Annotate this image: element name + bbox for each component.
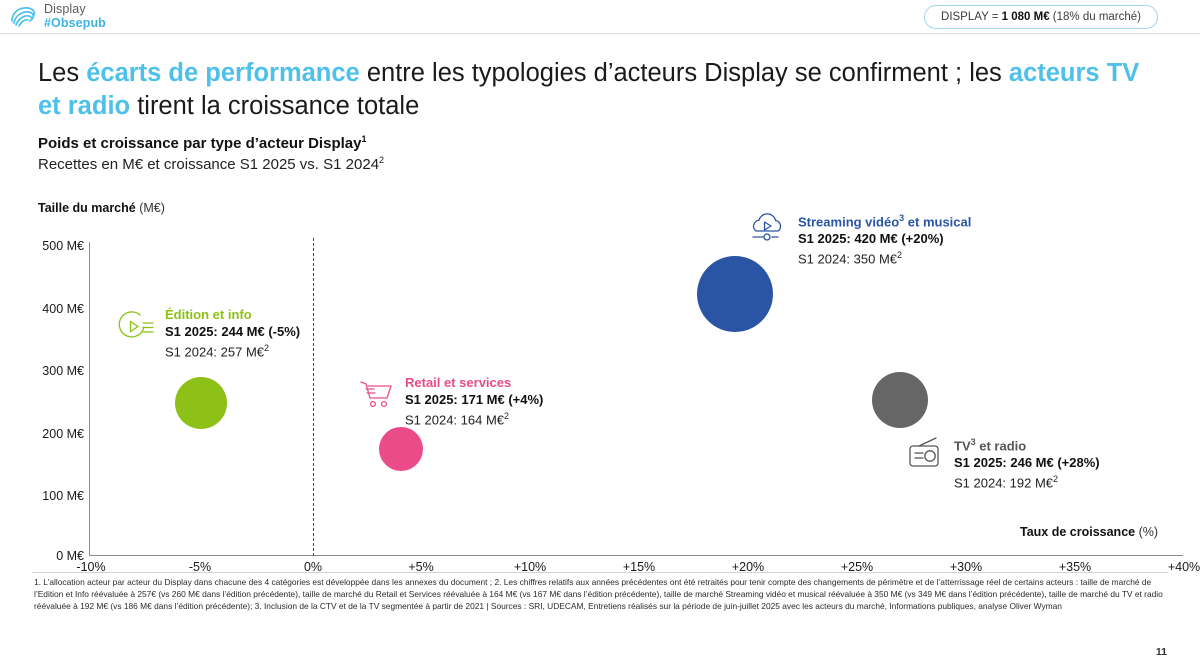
annotation-2024-edition-text: S1 2024: 257 M€ — [165, 344, 264, 359]
chart-title-footnote-ref: 1 — [361, 134, 366, 144]
chart-title-text: Poids et croissance par type d’acteur Di… — [38, 135, 361, 152]
badge-prefix: DISPLAY = — [941, 11, 1002, 23]
annotation-2024-retail: S1 2024: 164 M€2 — [405, 408, 543, 428]
page-title: Les écarts de performance entre les typo… — [38, 57, 1158, 123]
annotation-2024-streaming: S1 2024: 350 M€2 — [798, 247, 971, 267]
annotation-name-tvradio: TV3 et radio — [954, 434, 1100, 454]
chart-subtitle-footnote-ref: 2 — [379, 155, 384, 165]
display-total-badge: DISPLAY = 1 080 M€ (18% du marché) — [924, 5, 1158, 29]
annotation-2024-retail-footnote-ref: 2 — [504, 411, 509, 421]
y-tick-200: 200 M€ — [14, 427, 84, 441]
title-part-3: tirent la croissance totale — [130, 92, 419, 120]
y-axis-unit: (M€) — [139, 201, 165, 215]
annotation-name-tvradio-text: TV — [954, 438, 971, 453]
title-part-2: entre les typologies d’acteurs Display s… — [360, 59, 1009, 87]
footnote: 1. L’allocation acteur par acteur du Dis… — [34, 576, 1168, 613]
annotation-text-edition: Édition et info S1 2025: 244 M€ (-5%) S1… — [165, 307, 300, 360]
x-axis-line — [89, 555, 1183, 556]
bubble-tv-et-radio — [872, 372, 928, 428]
annotation-text-retail: Retail et services S1 2025: 171 M€ (+4%)… — [405, 375, 543, 428]
y-tick-0: 0 M€ — [14, 549, 84, 563]
play-article-icon — [117, 309, 157, 345]
annotation-2024-streaming-text: S1 2024: 350 M€ — [798, 252, 897, 267]
slide-header: Display #Obsepub DISPLAY = 1 080 M€ (18%… — [0, 0, 1200, 34]
bubble-retail-et-services — [379, 427, 423, 471]
chart-subtitle: Recettes en M€ et croissance S1 2025 vs.… — [38, 155, 384, 173]
footnote-divider — [32, 572, 1168, 573]
annotation-name-streaming: Streaming vidéo3 et musical — [798, 210, 971, 230]
annotation-name-retail: Retail et services — [405, 375, 543, 391]
y-axis-title: Taille du marché (M€) — [38, 201, 165, 215]
annotation-2024-streaming-footnote-ref: 2 — [897, 250, 902, 260]
bubble-edition-et-info — [175, 377, 227, 429]
header-divider — [0, 33, 1200, 34]
annotation-2024-tvradio-footnote-ref: 2 — [1053, 474, 1058, 484]
y-axis-title-text: Taille du marché — [38, 201, 139, 215]
annotation-name-streaming-text: Streaming vidéo — [798, 214, 899, 229]
cloud-play-icon — [750, 212, 790, 248]
annotation-2024-tvradio-text: S1 2024: 192 M€ — [954, 476, 1053, 491]
annotation-2025-edition: S1 2025: 244 M€ (-5%) — [165, 323, 300, 340]
bubble-streaming-video-et-musical — [697, 256, 773, 332]
annotation-2024-tvradio: S1 2024: 192 M€2 — [954, 471, 1100, 491]
annotation-2025-retail: S1 2025: 171 M€ (+4%) — [405, 391, 543, 408]
x-axis-title-text: Taux de croissance — [1020, 525, 1139, 539]
title-part-1: Les — [38, 59, 86, 87]
annotation-text-streaming: Streaming vidéo3 et musical S1 2025: 420… — [798, 210, 971, 268]
annotation-text-tvradio: TV3 et radio S1 2025: 246 M€ (+28%) S1 2… — [954, 434, 1100, 492]
annotation-name-edition: Édition et info — [165, 307, 300, 323]
badge-value: 1 080 M€ — [1002, 11, 1050, 23]
header-brand-display: Display — [44, 2, 86, 16]
badge-suffix: (18% du marché) — [1050, 11, 1141, 23]
header-brand-obsepub: #Obsepub — [44, 16, 106, 30]
annotation-name-tvradio-rest: et radio — [976, 438, 1027, 453]
chart-subtitle-text: Recettes en M€ et croissance S1 2025 vs.… — [38, 156, 379, 173]
y-tick-400: 400 M€ — [14, 302, 84, 316]
obsepub-swirl-logo-icon — [8, 4, 40, 30]
radio-icon — [906, 436, 946, 472]
annotation-2025-streaming: S1 2025: 420 M€ (+20%) — [798, 230, 971, 247]
annotation-2024-edition: S1 2024: 257 M€2 — [165, 340, 300, 360]
y-axis-line — [89, 242, 90, 556]
x-axis-unit: (%) — [1139, 525, 1158, 539]
shopping-cart-icon — [357, 377, 397, 413]
annotation-name-streaming-rest: et musical — [904, 214, 971, 229]
x-axis-title: Taux de croissance (%) — [1020, 525, 1158, 539]
chart-title: Poids et croissance par type d’acteur Di… — [38, 134, 366, 152]
annotation-2025-tvradio: S1 2025: 246 M€ (+28%) — [954, 454, 1100, 471]
zero-growth-reference-line — [313, 238, 314, 556]
y-tick-300: 300 M€ — [14, 364, 84, 378]
annotation-2024-edition-footnote-ref: 2 — [264, 343, 269, 353]
y-tick-100: 100 M€ — [14, 489, 84, 503]
page-number: 11 — [1156, 646, 1167, 658]
y-tick-500: 500 M€ — [14, 239, 84, 253]
slide: Display #Obsepub DISPLAY = 1 080 M€ (18%… — [0, 0, 1200, 672]
title-highlight-1: écarts de performance — [86, 59, 360, 87]
annotation-2024-retail-text: S1 2024: 164 M€ — [405, 412, 504, 427]
